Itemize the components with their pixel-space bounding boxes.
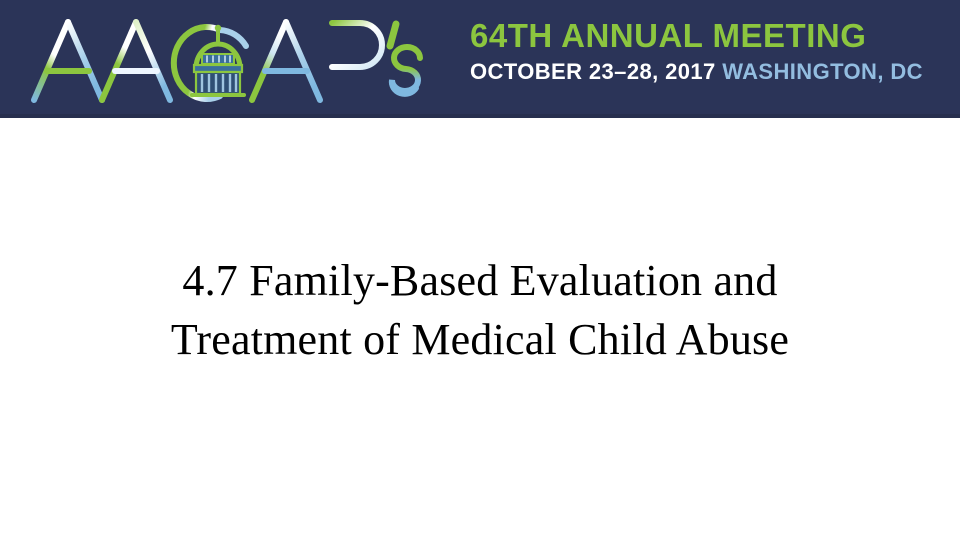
banner-underline: [0, 114, 960, 118]
logo-apostrophe: [390, 24, 396, 46]
logo-capitol-dome-icon: [174, 25, 246, 99]
meeting-dates: OCTOBER 23–28, 2017: [470, 59, 716, 84]
slide-title-line-2: Treatment of Medical Child Abuse: [60, 311, 900, 370]
slide-title: 4.7 Family-Based Evaluation and Treatmen…: [60, 252, 900, 369]
logo-letter-a-3: [252, 22, 320, 100]
aacap-logo: [24, 10, 444, 110]
meeting-title: 64TH ANNUAL MEETING: [470, 18, 940, 55]
logo-letter-s: [392, 47, 420, 94]
meeting-dates-location: OCTOBER 23–28, 2017 WASHINGTON, DC: [470, 58, 940, 86]
slide-title-line-1: 4.7 Family-Based Evaluation and: [60, 252, 900, 311]
logo-letter-a-2: [102, 22, 170, 100]
logo-letter-p: [332, 23, 382, 100]
logo-letter-a-1: [34, 22, 102, 100]
meeting-city: WASHINGTON, DC: [722, 59, 923, 84]
meeting-info: 64TH ANNUAL MEETING OCTOBER 23–28, 2017 …: [470, 18, 940, 85]
conference-banner: 64TH ANNUAL MEETING OCTOBER 23–28, 2017 …: [0, 0, 960, 118]
